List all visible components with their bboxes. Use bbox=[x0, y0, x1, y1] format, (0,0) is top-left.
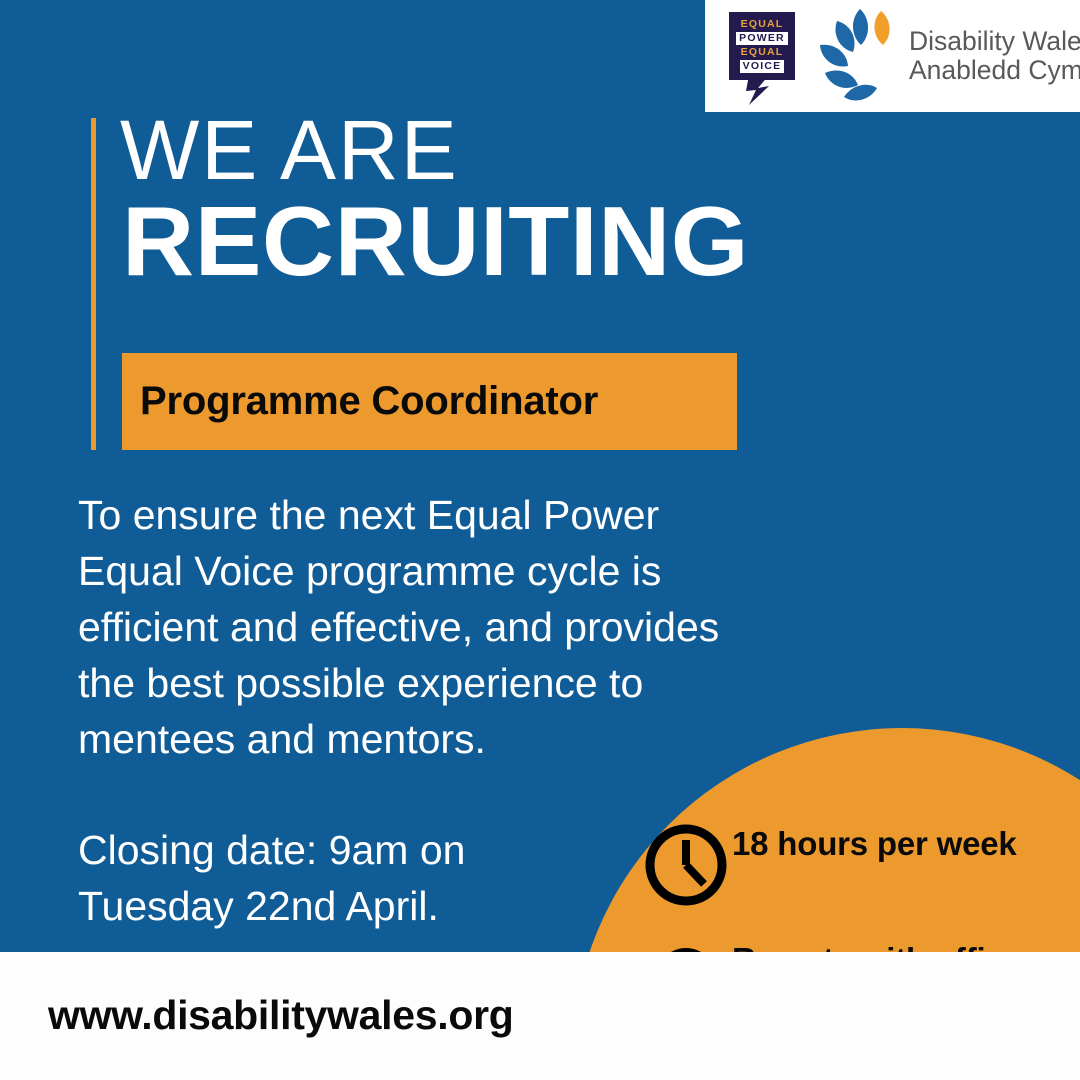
job-title: Programme Coordinator bbox=[140, 379, 598, 424]
epev-line-equal-2: EQUAL bbox=[739, 46, 786, 59]
disability-wales-name-cy: Anabledd Cymru bbox=[909, 56, 1080, 85]
closing-date: Closing date: 9am on Tuesday 22nd April. bbox=[78, 822, 598, 934]
logo-panel: EQUAL POWER EQUAL VOICE bbox=[705, 0, 1080, 112]
job-description: To ensure the next Equal Power Equal Voi… bbox=[78, 487, 738, 767]
website-url[interactable]: www.disabilitywales.org bbox=[48, 992, 513, 1039]
detail-text-hours: 18 hours per week bbox=[732, 818, 1017, 866]
leaf-fan-icon bbox=[811, 7, 901, 105]
recruitment-poster: EQUAL POWER EQUAL VOICE bbox=[0, 0, 1080, 1080]
epev-line-power: POWER bbox=[736, 32, 788, 46]
equal-power-equal-voice-logo: EQUAL POWER EQUAL VOICE bbox=[727, 9, 799, 104]
epev-line-voice: VOICE bbox=[740, 60, 785, 74]
epev-line-equal-1: EQUAL bbox=[739, 18, 786, 31]
lightning-bolt-icon bbox=[745, 75, 779, 105]
accent-rule bbox=[91, 118, 96, 450]
detail-row-hours: 18 hours per week bbox=[640, 818, 1070, 908]
job-title-bar: Programme Coordinator bbox=[122, 353, 737, 450]
epev-speech-bubble: EQUAL POWER EQUAL VOICE bbox=[729, 12, 795, 80]
clock-icon bbox=[640, 818, 732, 908]
headline-line-1: WE ARE bbox=[120, 108, 459, 192]
headline-line-2: RECRUITING bbox=[122, 192, 749, 290]
disability-wales-name-en: Disability Wales bbox=[909, 27, 1080, 56]
disability-wales-wordmark: Disability Wales Anabledd Cymru bbox=[909, 27, 1080, 84]
